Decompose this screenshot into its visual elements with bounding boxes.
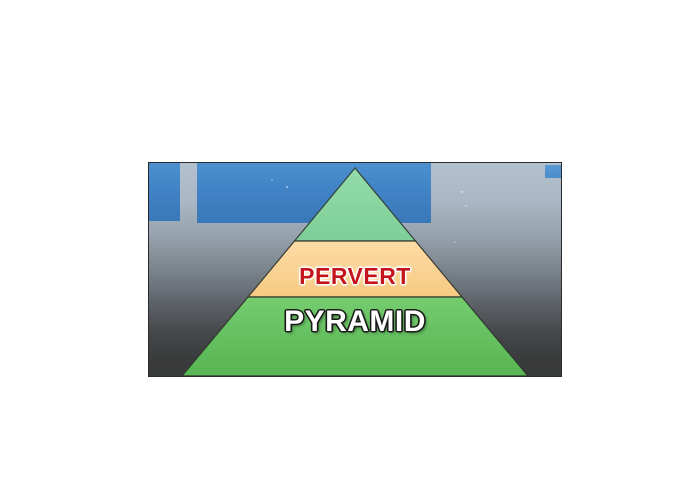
video-thumbnail[interactable]: PERVERT PYRAMID xyxy=(148,162,562,377)
pyramid-tier-base-label: PYRAMID xyxy=(149,305,561,339)
page-root: PERVERT PYRAMID xyxy=(0,0,700,486)
pyramid-tier-top xyxy=(295,168,416,241)
pyramid-tier-middle-label: PERVERT xyxy=(149,263,561,290)
